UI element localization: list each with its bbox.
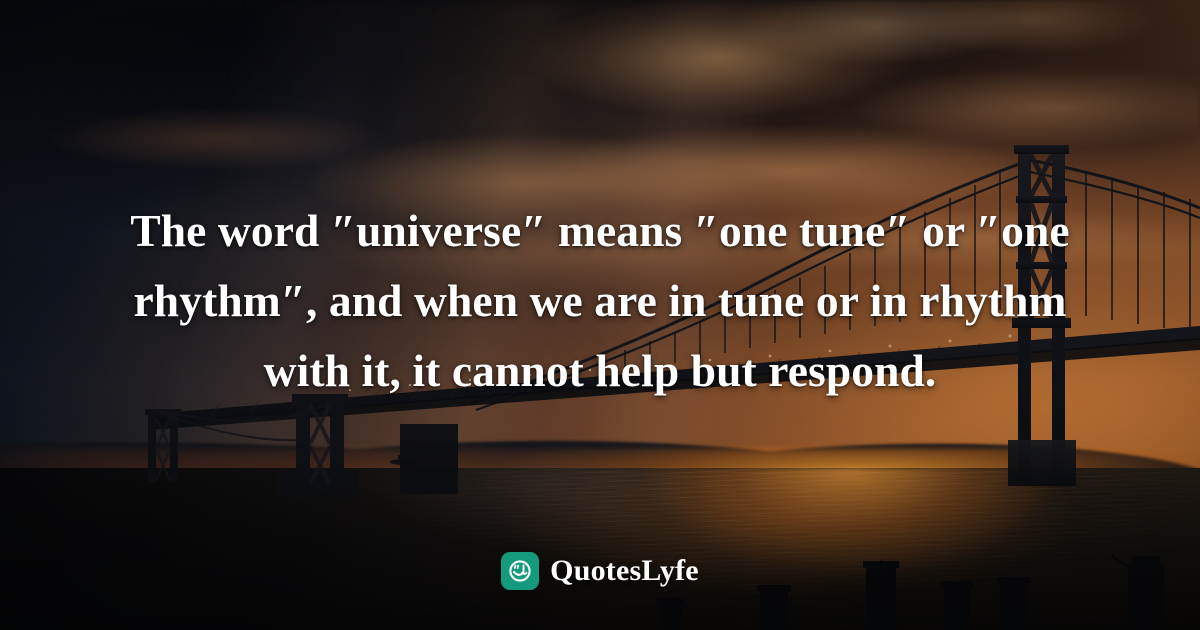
card-content: The word ″universe″ means ″one tune″ or … [0, 0, 1200, 630]
brand-logo[interactable]: QuotesLyfe [0, 552, 1200, 590]
quote-smiley-icon [501, 552, 539, 590]
quote-text: The word ″universe″ means ″one tune″ or … [60, 196, 1140, 406]
brand-name: QuotesLyfe [550, 556, 699, 586]
quote-block: The word ″universe″ means ″one tune″ or … [60, 196, 1140, 406]
quote-card: The word ″universe″ means ″one tune″ or … [0, 0, 1200, 630]
